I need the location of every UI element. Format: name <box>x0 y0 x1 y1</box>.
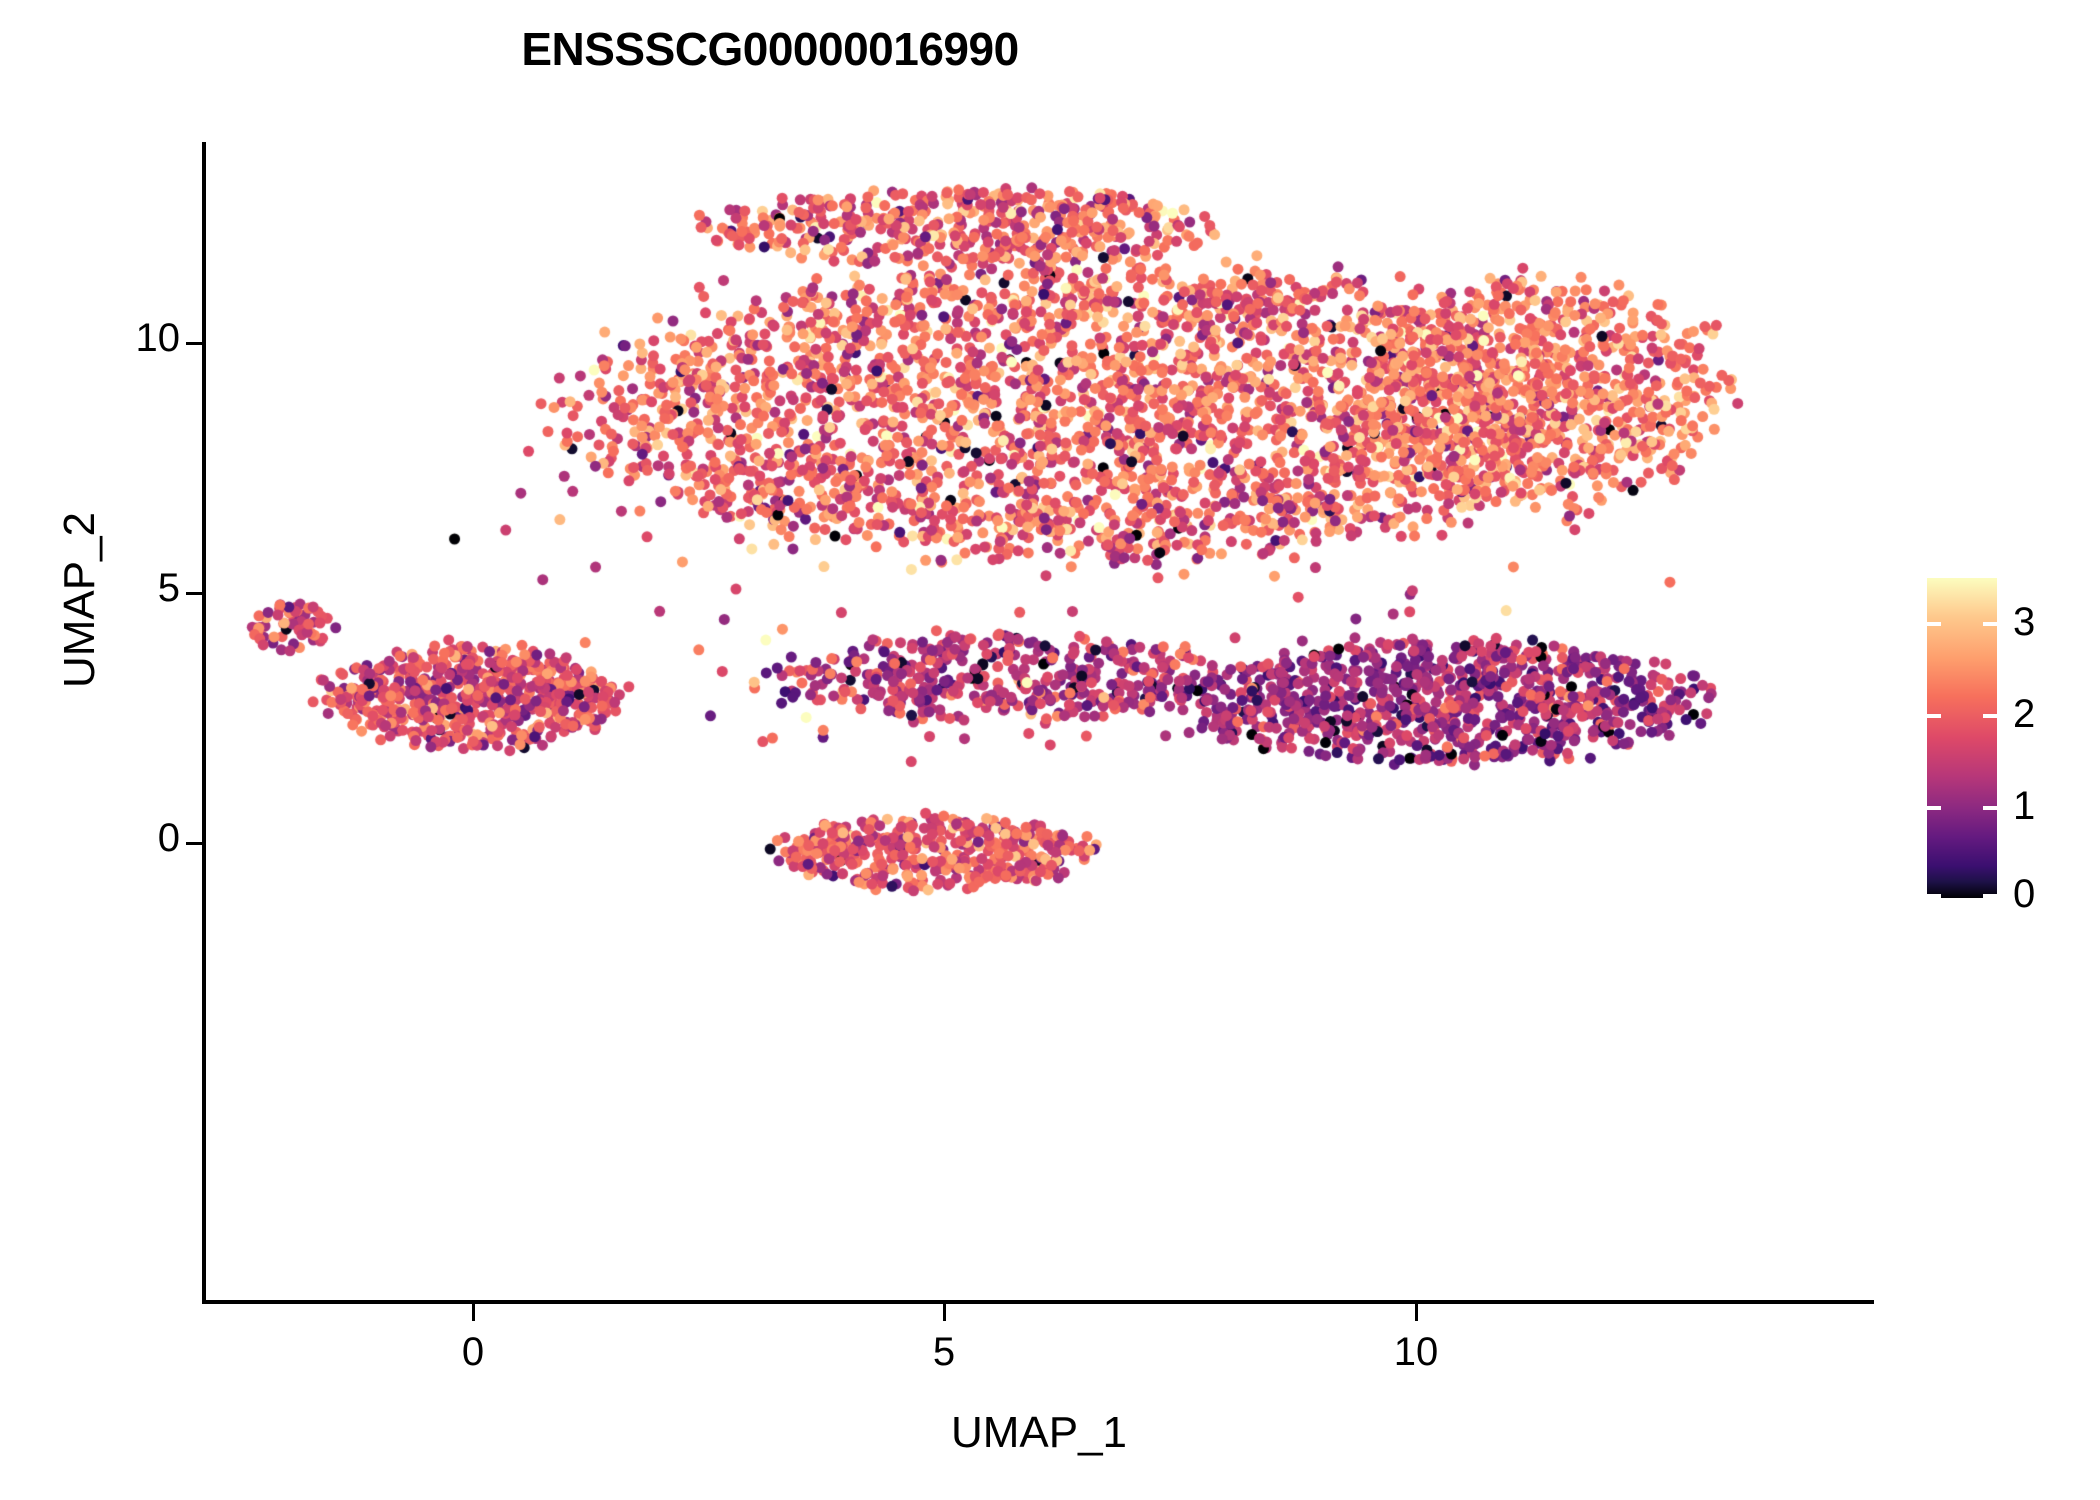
scatter-points-canvas <box>205 142 1873 1302</box>
plot-panel <box>205 142 1873 1302</box>
colorbar-tick-2-left <box>1927 714 1941 718</box>
x-tick-mark-5 <box>943 1304 946 1321</box>
colorbar-tick-3-left <box>1927 622 1941 626</box>
colorbar-tick-0-right <box>1983 894 1997 898</box>
y-tick-mark-10 <box>186 342 203 345</box>
x-tick-label-10: 10 <box>1316 1332 1516 1372</box>
x-tick-label-5: 5 <box>844 1332 1044 1372</box>
colorbar-tick-1-right <box>1983 806 1997 810</box>
colorbar-label-0: 0 <box>2013 874 2035 914</box>
y-tick-mark-5 <box>186 592 203 595</box>
colorbar-tick-1-left <box>1927 806 1941 810</box>
y-tick-label-10: 10 <box>0 318 180 358</box>
colorbar-label-1: 1 <box>2013 786 2035 826</box>
y-axis-title: UMAP_2 <box>55 450 105 750</box>
colorbar-tick-2-right <box>1983 714 1997 718</box>
x-tick-mark-0 <box>472 1304 475 1321</box>
color-legend: 3 2 1 0 <box>1927 578 2087 900</box>
colorbar-label-2: 2 <box>2013 694 2035 734</box>
umap-feature-plot: ENSSSCG00000016990 10 5 0 0 5 10 UMAP_2 … <box>0 0 2100 1500</box>
colorbar-tick-0-left <box>1927 894 1941 898</box>
x-axis-line <box>203 1300 1874 1304</box>
y-tick-label-0: 0 <box>0 818 180 858</box>
y-tick-mark-0 <box>186 842 203 845</box>
x-tick-mark-10 <box>1415 1304 1418 1321</box>
colorbar-tick-3-right <box>1983 622 1997 626</box>
colorbar-label-3: 3 <box>2013 602 2035 642</box>
colorbar-gradient <box>1927 578 1997 898</box>
x-axis-title: UMAP_1 <box>589 1408 1489 1458</box>
page-title: ENSSSCG00000016990 <box>0 26 1540 72</box>
x-tick-label-0: 0 <box>373 1332 573 1372</box>
y-axis-line <box>202 142 206 1304</box>
